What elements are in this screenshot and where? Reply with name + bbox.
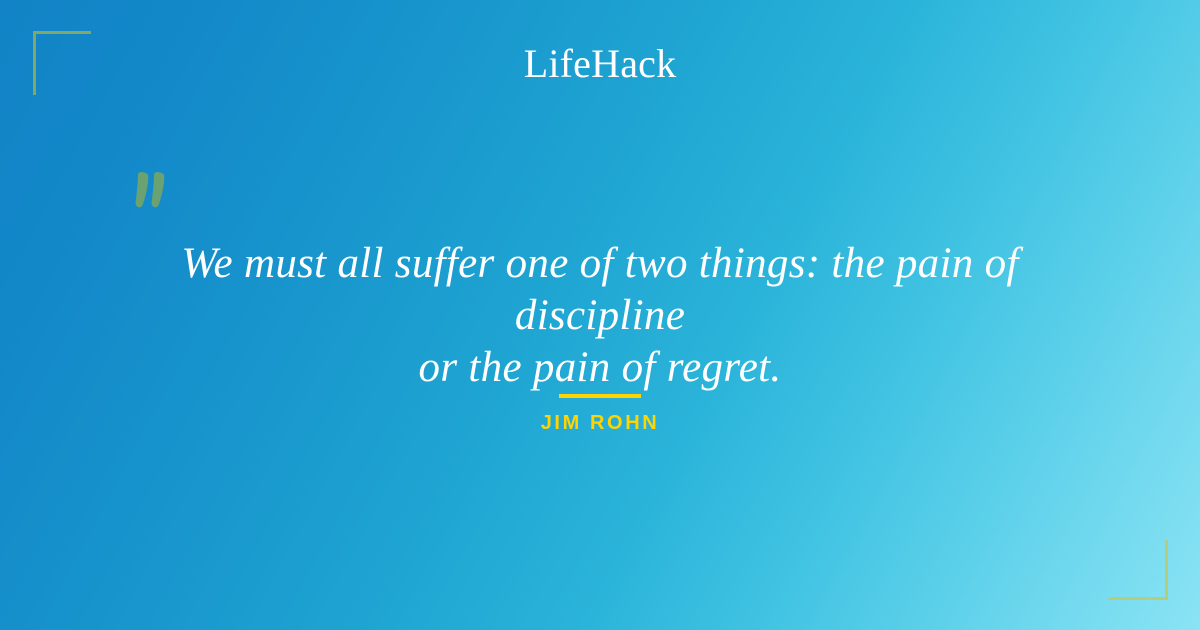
quote-card: LifeHack We must all suffer one of two t… <box>0 0 1200 630</box>
brand-logo: LifeHack <box>0 40 1200 88</box>
corner-bracket-bottom-right-icon <box>1108 540 1168 600</box>
quote-line-1: We must all suffer one of two things: th… <box>100 238 1100 342</box>
quote-block: We must all suffer one of two things: th… <box>100 238 1100 394</box>
attribution-divider <box>559 394 641 398</box>
quote-author: JIM ROHN <box>0 412 1200 435</box>
quotation-mark-icon <box>124 158 194 228</box>
attribution-divider-wrap <box>0 385 1200 403</box>
